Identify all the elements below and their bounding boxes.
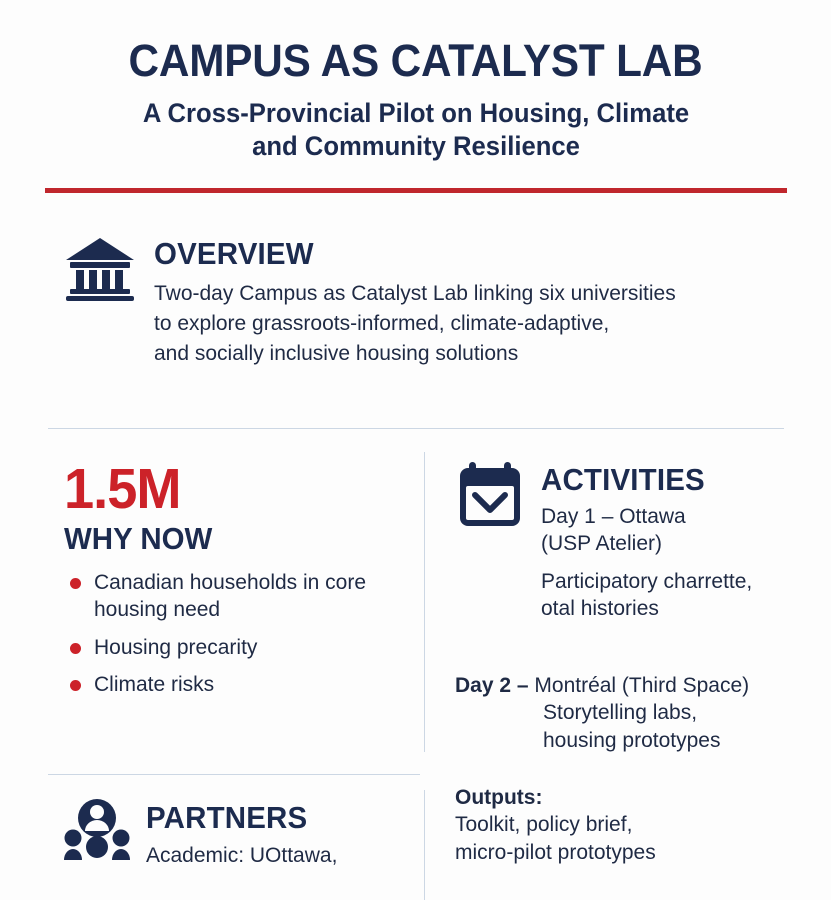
overview-line-3: and socially inclusive housing solutions (154, 339, 784, 369)
partners-title: PARTNERS (146, 802, 403, 833)
list-item: Climate risks (64, 671, 404, 698)
day2-location: Montréal (Third Space) (534, 674, 749, 697)
day2-label: Day 2 – (455, 674, 534, 697)
accent-divider (45, 188, 787, 193)
why-now-stat: 1.5M (64, 462, 387, 517)
why-now-bullet-list: Canadian households in core housing need… (64, 569, 404, 698)
day1-label-line2: (USP Atelier) (541, 530, 752, 557)
outputs-line-1: Toolkit, policy brief, (455, 811, 830, 838)
section-divider-top (48, 428, 784, 429)
day2-detail-line1: Storytelling labs, (543, 699, 830, 726)
partners-section: PARTNERS Academic: UOttawa, (64, 798, 414, 871)
infographic-poster: CAMPUS AS CATALYST LAB A Cross-Provincia… (0, 0, 831, 900)
page-subtitle: A Cross-Provincial Pilot on Housing, Cli… (83, 97, 748, 164)
why-now-section: 1.5M WHY NOW Canadian households in core… (64, 462, 404, 708)
day1-detail-line2: otal histories (541, 595, 752, 622)
overview-line-2: to explore grassroots-informed, climate-… (154, 309, 784, 339)
activities-day1-block: Day 1 – Ottawa (USP Atelier) Participato… (541, 503, 752, 622)
page-title: CAMPUS AS CATALYST LAB (25, 38, 806, 83)
day1-label: Day 1 – Ottawa (541, 503, 752, 530)
activities-title: ACTIVITIES (541, 464, 742, 495)
list-item: Canadian households in core housing need (64, 569, 404, 624)
poster-header: CAMPUS AS CATALYST LAB A Cross-Provincia… (0, 0, 831, 193)
column-divider-lower (424, 790, 425, 900)
overview-title: OVERVIEW (154, 238, 753, 269)
subtitle-line-1: A Cross-Provincial Pilot on Housing, Cli… (83, 97, 748, 130)
activities-outputs-block: Outputs: Toolkit, policy brief, micro-pi… (455, 784, 830, 866)
bank-institution-icon (64, 236, 136, 302)
activities-day2-block: Day 2 – Montréal (Third Space) Storytell… (455, 672, 830, 754)
why-now-title: WHY NOW (64, 522, 387, 555)
outputs-label: Outputs: (455, 784, 830, 811)
subtitle-line-2: and Community Resilience (83, 130, 748, 163)
overview-section: OVERVIEW Two-day Campus as Catalyst Lab … (64, 236, 804, 368)
partners-body: Academic: UOttawa, (146, 841, 416, 871)
overview-body: Two-day Campus as Catalyst Lab linking s… (154, 279, 784, 368)
activities-section: ACTIVITIES Day 1 – Ottawa (USP Atelier) … (455, 460, 825, 622)
day2-detail-line2: housing prototypes (543, 727, 830, 754)
partners-line-1: Academic: UOttawa, (146, 841, 416, 871)
section-divider-partners (48, 774, 420, 775)
day1-detail-line1: Participatory charrette, (541, 568, 752, 595)
overview-line-1: Two-day Campus as Catalyst Lab linking s… (154, 279, 784, 309)
day2-heading: Day 2 – Montréal (Third Space) (455, 672, 830, 699)
column-divider-upper (424, 452, 425, 752)
list-item: Housing precarity (64, 634, 404, 661)
calendar-check-icon (455, 460, 525, 530)
people-group-icon (64, 798, 130, 860)
outputs-line-2: micro-pilot prototypes (455, 839, 830, 866)
